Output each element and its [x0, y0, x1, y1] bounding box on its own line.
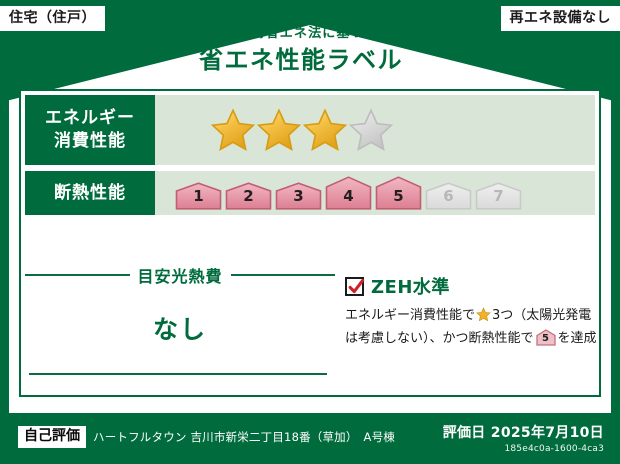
- row-value-insulation-performance: 1234567: [155, 171, 595, 215]
- header-subtitle: 建築物省エネ法に基づく: [0, 26, 602, 42]
- insulation-level-7: 7: [475, 182, 522, 210]
- insulation-level-number: 3: [275, 187, 322, 205]
- utility-cost-value: なし: [25, 310, 335, 346]
- rule-right: [231, 274, 336, 276]
- insulation-level-6: 6: [425, 182, 472, 210]
- self-evaluation-badge: 自己評価: [18, 426, 86, 448]
- panel-bottom: 目安光熱費 なし ZEH水準 エネルギー消費性能で: [25, 259, 599, 393]
- row-insulation-performance: 断熱性能 1234567: [25, 171, 595, 215]
- utility-cost-bottom-rule: [29, 373, 327, 375]
- row-label-energy-performance: エネルギー 消費性能: [25, 95, 155, 165]
- zeh-heading-row: ZEH水準: [345, 273, 599, 299]
- insulation-level-number: 1: [175, 187, 222, 205]
- zeh-description: エネルギー消費性能で 3つ（太陽光発電 は考慮しない）、かつ断熱性能で 5 を達…: [345, 306, 599, 349]
- utility-cost-section: 目安光熱費 なし: [25, 259, 335, 393]
- star-filled-icon: [211, 108, 255, 152]
- utility-cost-heading: 目安光熱費: [130, 263, 231, 287]
- inline-house-level-number: 5: [536, 331, 556, 347]
- rule-left: [25, 274, 130, 276]
- row-value-energy-performance: [155, 95, 595, 165]
- footer-left: 自己評価 ハートフルタウン 吉川市新栄二丁目18番（草加） A号棟: [18, 426, 395, 448]
- insulation-level-number: 6: [425, 187, 472, 205]
- energy-label-line2: 消費性能: [54, 130, 126, 153]
- utility-cost-heading-row: 目安光熱費: [25, 263, 335, 287]
- insulation-level-3: 3: [275, 182, 322, 210]
- evaluation-date-value: 2025年7月10日: [491, 425, 604, 441]
- label-header: 建築物省エネ法に基づく 省エネ性能ラベル: [0, 26, 602, 76]
- insulation-level-number: 7: [475, 187, 522, 205]
- star-filled-icon: [257, 108, 301, 152]
- star-filled-icon: [303, 108, 347, 152]
- energy-performance-label: 住宅（住戸） 再エネ設備なし 建築物省エネ法に基づく 省エネ性能ラベル エネルギ…: [0, 0, 620, 464]
- evaluation-date-label: 評価日: [443, 425, 486, 441]
- evaluation-date: 評価日 2025年7月10日: [443, 422, 604, 442]
- checkbox-checked-icon: [345, 277, 364, 296]
- property-address: ハートフルタウン 吉川市新栄二丁目18番（草加） A号棟: [93, 429, 395, 445]
- insulation-level-5: 5: [375, 176, 422, 210]
- insulation-level-scale: 1234567: [175, 176, 522, 210]
- insulation-level-4: 4: [325, 176, 372, 210]
- zeh-desc-part3: を達成: [558, 331, 597, 346]
- zeh-desc-star-count: 3つ（太陽光発電: [492, 308, 591, 323]
- insulation-level-number: 5: [375, 187, 422, 205]
- inline-star-icon: [476, 307, 491, 329]
- row-energy-performance: エネルギー 消費性能: [25, 95, 595, 165]
- zeh-desc-part2: は考慮しない）、かつ断熱性能で: [345, 331, 534, 346]
- energy-label-line1: エネルギー: [45, 107, 135, 130]
- header-title: 省エネ性能ラベル: [0, 44, 602, 76]
- evaluation-id: 185e4c0a-1600-4ca3: [443, 444, 604, 454]
- insulation-level-2: 2: [225, 182, 272, 210]
- insulation-level-1: 1: [175, 182, 222, 210]
- footer-right: 評価日 2025年7月10日 185e4c0a-1600-4ca3: [443, 422, 604, 454]
- label-panel: エネルギー 消費性能 断熱性能 1234567 目安光熱費: [19, 89, 601, 397]
- inline-house-level-icon: 5: [536, 329, 556, 346]
- insulation-label: 断熱性能: [54, 182, 126, 205]
- zeh-section: ZEH水準 エネルギー消費性能で 3つ（太陽光発電 は考慮しない）、かつ断熱性能…: [335, 259, 599, 393]
- insulation-level-number: 4: [325, 187, 372, 205]
- insulation-level-number: 2: [225, 187, 272, 205]
- zeh-title: ZEH水準: [371, 273, 450, 299]
- star-rating: [211, 108, 393, 152]
- zeh-desc-part1: エネルギー消費性能で: [345, 308, 475, 323]
- label-footer: 自己評価 ハートフルタウン 吉川市新栄二丁目18番（草加） A号棟 評価日 20…: [0, 414, 620, 464]
- star-empty-icon: [349, 108, 393, 152]
- row-label-insulation-performance: 断熱性能: [25, 171, 155, 215]
